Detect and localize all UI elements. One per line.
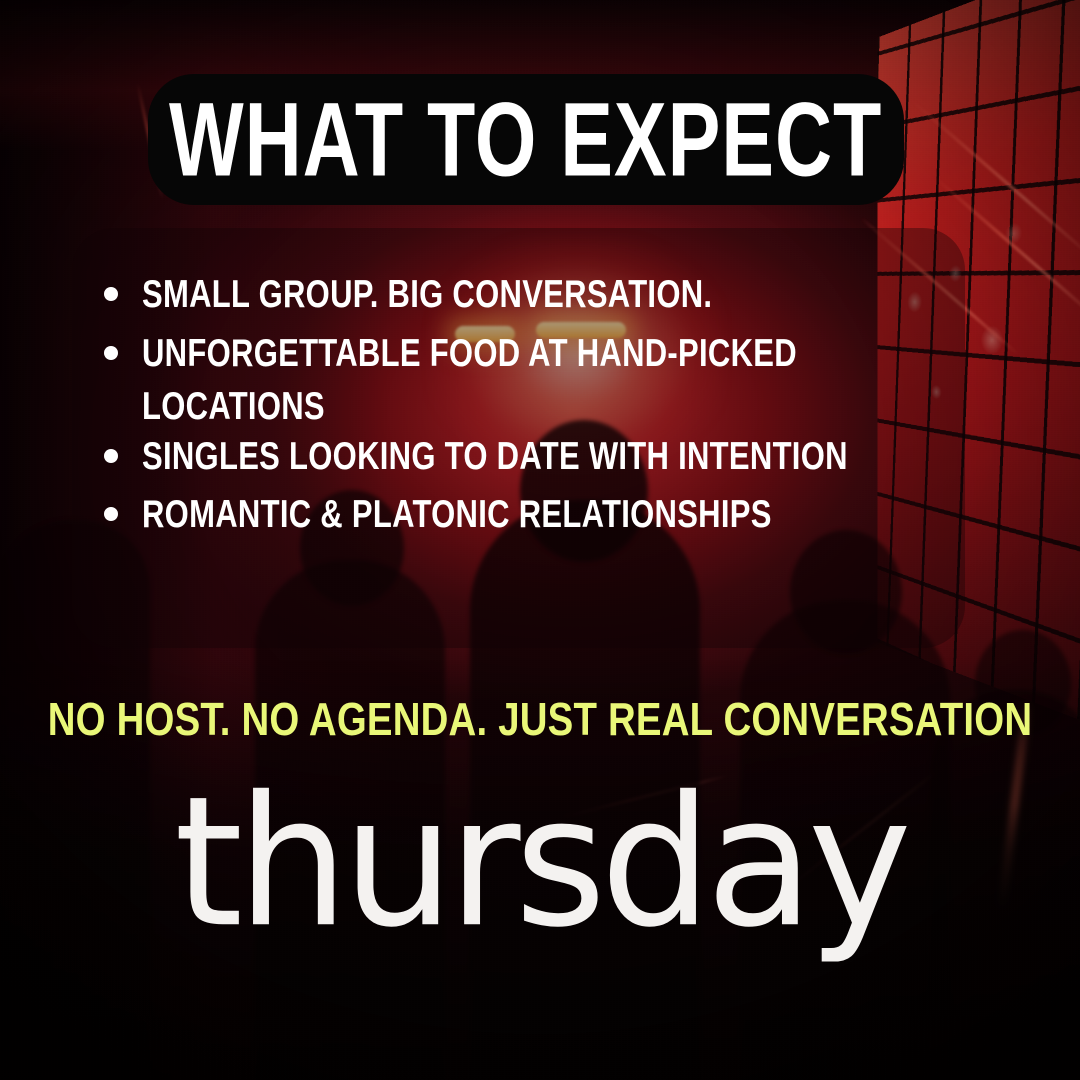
tagline-text: NO HOST. NO AGENDA. JUST REAL CONVERSATI…: [22, 697, 1059, 743]
list-item-label: UNFORGETTABLE FOOD AT HAND-PICKED LOCATI…: [142, 327, 932, 432]
list-item-label: ROMANTIC & PLATONIC RELATIONSHIPS: [142, 488, 772, 541]
brand-logo: thursday singles dinner: [0, 775, 1080, 1005]
list-item: UNFORGETTABLE FOOD AT HAND-PICKED LOCATI…: [104, 327, 984, 416]
list-item-label: SMALL GROUP. BIG CONVERSATION.: [142, 268, 712, 321]
list-item: SMALL GROUP. BIG CONVERSATION.: [104, 268, 984, 313]
list-item: ROMANTIC & PLATONIC RELATIONSHIPS: [104, 488, 984, 533]
page-title: WHAT TO EXPECT: [169, 87, 882, 192]
expectations-list: SMALL GROUP. BIG CONVERSATION. UNFORGETT…: [104, 268, 984, 547]
bullet-dot-icon: [104, 287, 118, 301]
list-item: SINGLES LOOKING TO DATE WITH INTENTION: [104, 430, 984, 475]
bullet-dot-icon: [104, 507, 118, 521]
bullet-dot-icon: [104, 449, 118, 463]
brand-wordmark: thursday: [0, 773, 1080, 953]
title-pill: WHAT TO EXPECT: [148, 74, 904, 205]
list-item-label: SINGLES LOOKING TO DATE WITH INTENTION: [142, 430, 848, 483]
bullet-dot-icon: [104, 346, 118, 360]
poster-canvas: WHAT TO EXPECT SMALL GROUP. BIG CONVERSA…: [0, 0, 1080, 1080]
poster-content: WHAT TO EXPECT SMALL GROUP. BIG CONVERSA…: [0, 0, 1080, 1080]
